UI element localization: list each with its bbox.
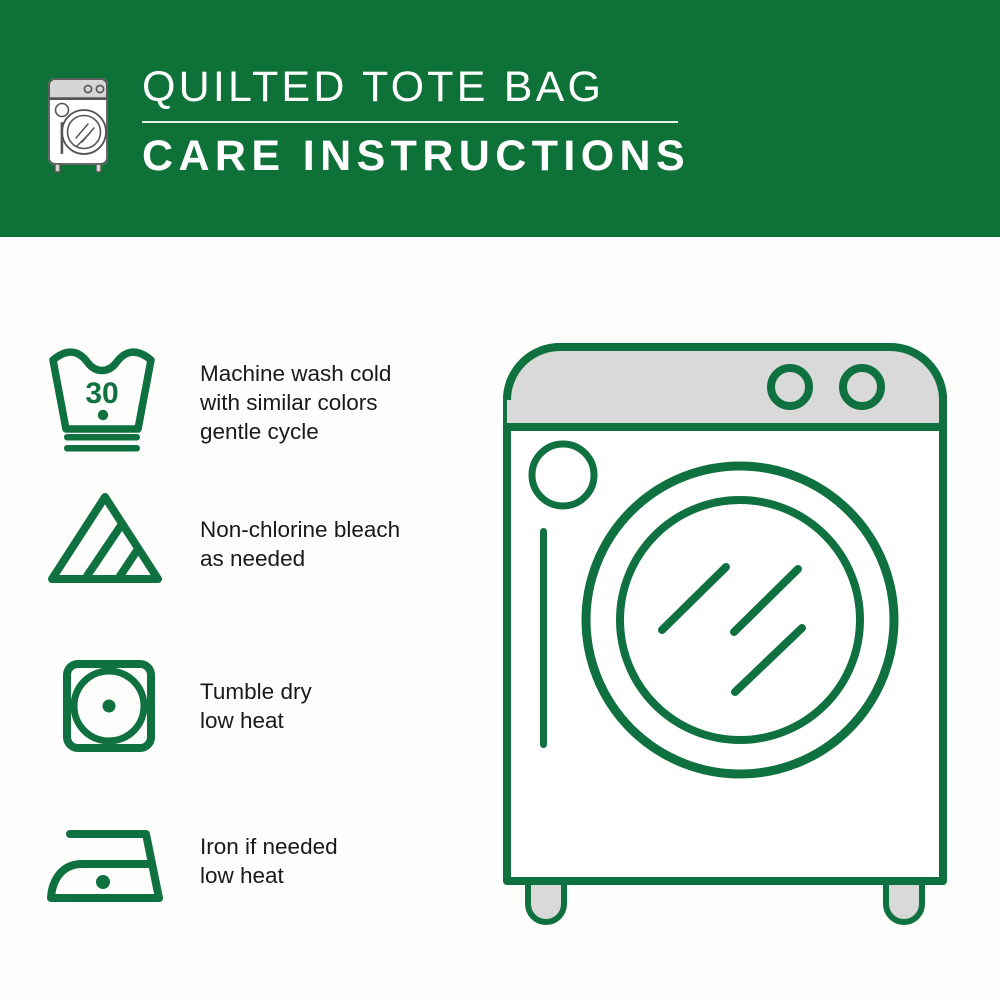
care-row-tumble-dry: Tumble dry low heat [0, 642, 470, 762]
care-line: Iron if needed [200, 832, 468, 861]
care-text-machine-wash: Machine wash cold with similar colors ge… [200, 359, 468, 446]
care-line: Non-chlorine bleach [200, 515, 468, 544]
page-subtitle: CARE INSTRUCTIONS [142, 131, 722, 181]
care-text-tumble-dry: Tumble dry low heat [200, 677, 468, 735]
care-line: as needed [200, 544, 468, 573]
care-row-bleach: Non-chlorine bleach as needed [0, 487, 470, 607]
tumble-dry-low-heat-icon [46, 650, 166, 760]
svg-text:30: 30 [85, 377, 118, 410]
care-line: Machine wash cold [200, 359, 468, 388]
washing-machine-logo-icon [44, 72, 116, 176]
bleach-triangle-non-chlorine-icon [46, 491, 166, 601]
title-divider [142, 121, 678, 123]
header-banner: QUILTED TOTE BAG CARE INSTRUCTIONS [0, 0, 1000, 237]
care-instructions-page: QUILTED TOTE BAG CARE INSTRUCTIONS 30 [0, 0, 1000, 1000]
care-text-iron: Iron if needed low heat [200, 832, 468, 890]
care-line: low heat [200, 861, 468, 890]
page-title: QUILTED TOTE BAG [142, 62, 722, 112]
care-line: gentle cycle [200, 417, 468, 446]
care-line: low heat [200, 706, 468, 735]
care-row-iron: Iron if needed low heat [0, 792, 470, 912]
care-text-bleach: Non-chlorine bleach as needed [200, 515, 468, 573]
washer-side-bar [540, 528, 547, 748]
iron-low-heat-icon [46, 806, 166, 916]
care-line: Tumble dry [200, 677, 468, 706]
front-load-washing-machine-illustration [490, 330, 980, 930]
care-row-machine-wash: 30 Machine wash cold with similar colors… [0, 347, 470, 467]
wash-tub-30-gentle-icon: 30 [46, 347, 166, 457]
care-line: with similar colors [200, 388, 468, 417]
care-instruction-list: 30 Machine wash cold with similar colors… [0, 237, 470, 1000]
header-title-block: QUILTED TOTE BAG CARE INSTRUCTIONS [142, 62, 722, 181]
